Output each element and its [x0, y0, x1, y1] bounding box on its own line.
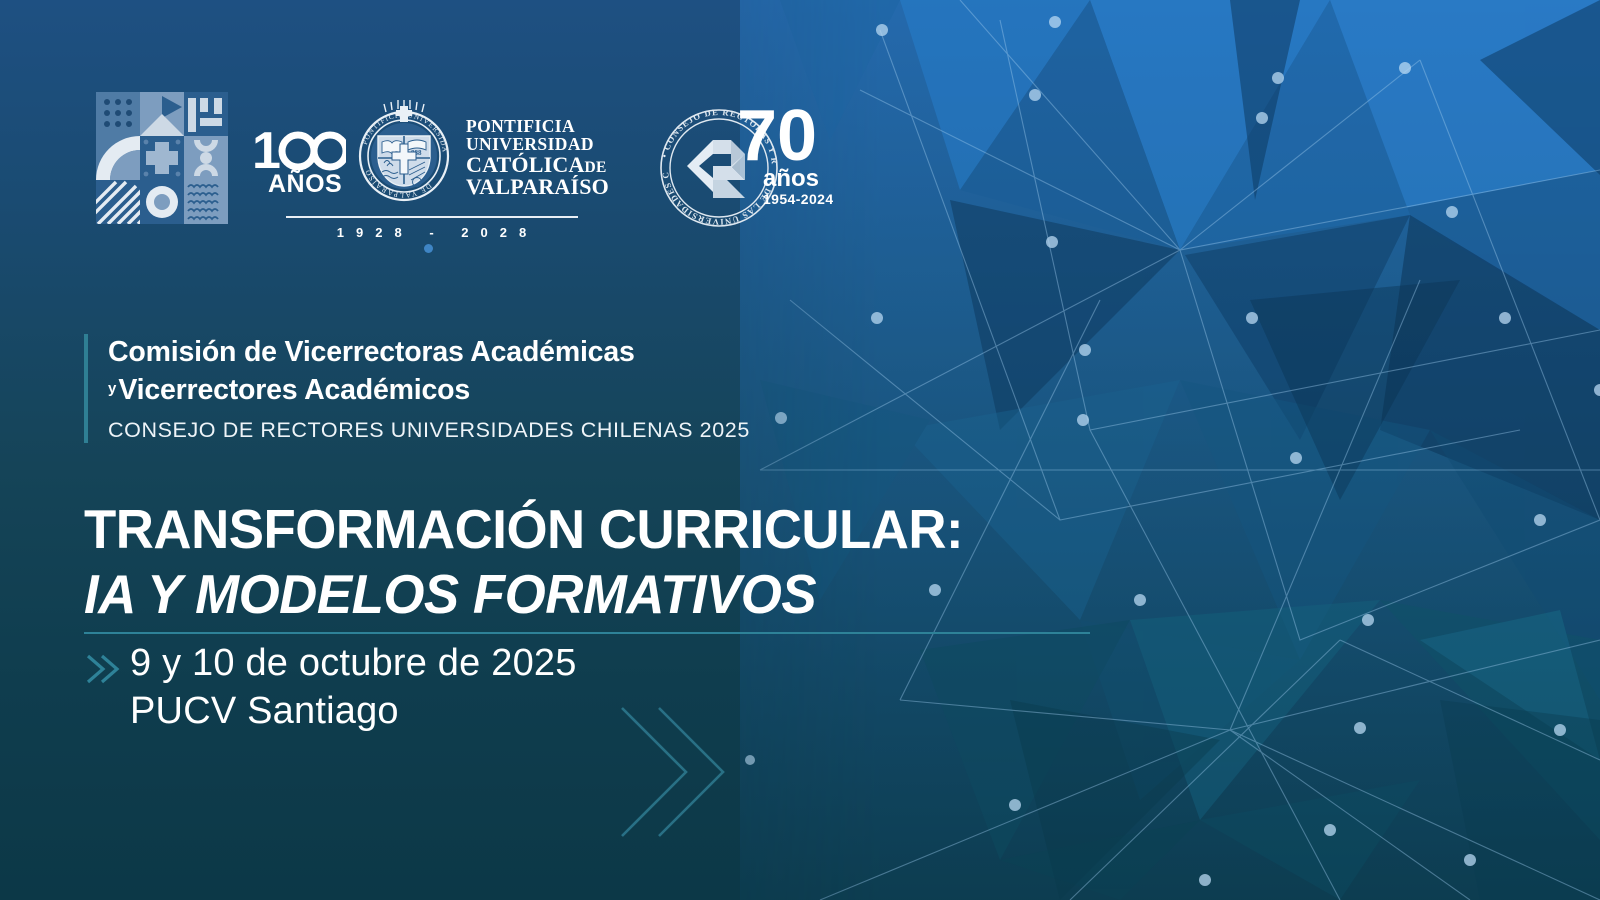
- double-chevron-right-icon: [84, 652, 120, 686]
- event-details: 9 y 10 de octubre de 2025 PUCV Santiago: [84, 640, 577, 735]
- event-dates: 9 y 10 de octubre de 2025: [130, 640, 577, 688]
- pucv-seal-icon: PONTIFICIA UNIVERSIDAD CATÓLICA DE VALPA…: [352, 100, 456, 208]
- headline-divider: [84, 632, 1090, 634]
- headline-line-2: IA Y MODELOS FORMATIVOS: [84, 565, 963, 624]
- commission-line-2-main: Vicerrectores Académicos: [118, 374, 470, 406]
- logo-row: 1 AÑOS: [96, 92, 833, 253]
- centenary-dot: [424, 244, 433, 253]
- cva-geometric-mark-icon: [96, 92, 228, 224]
- commission-line-2: yVicerrectores Académicos: [108, 372, 750, 410]
- cruch-logo: • CONSEJO DE RECTORAS Y RECTORES • • DE …: [651, 98, 833, 233]
- commission-subtitle: CONSEJO DE RECTORES UNIVERSIDADES CHILEN…: [108, 418, 750, 443]
- headline-line-1: TRANSFORMACIÓN CURRICULAR:: [84, 500, 963, 559]
- pucv-wordmark-line3-main: CATÓLICA: [466, 152, 585, 177]
- cruch-anniversary: 70 años 1954-2024: [737, 98, 833, 207]
- centenary-years: 1928 - 2028: [325, 225, 538, 240]
- pucv-wordmark-line3-small: DE: [585, 159, 607, 176]
- slide-canvas: 1 AÑOS: [0, 0, 1600, 900]
- cruch-anos: años: [763, 165, 819, 192]
- pucv-wordmark-line4: VALPARAÍSO: [466, 176, 609, 198]
- centenary-word: AÑOS: [268, 168, 342, 198]
- pucv-100-anos-mark: 1 AÑOS: [254, 122, 346, 200]
- event-venue: PUCV Santiago: [130, 688, 577, 736]
- pucv-wordmark-line3: CATÓLICADE: [466, 154, 609, 176]
- pucv-wordmark: PONTIFICIA UNIVERSIDAD CATÓLICADE VALPAR…: [466, 118, 609, 199]
- double-chevron-right-large-icon: [614, 700, 764, 850]
- cruch-range: 1954-2024: [763, 191, 833, 207]
- commission-line-1: Comisión de Vicerrectoras Académicas: [108, 334, 750, 372]
- commission-conjunction: y: [108, 380, 116, 397]
- centenary-divider: [286, 216, 578, 218]
- pucv-centenary-lockup: 1 AÑOS: [254, 122, 609, 253]
- commission-block: Comisión de Vicerrectoras Académicas yVi…: [84, 334, 750, 443]
- event-headline: TRANSFORMACIÓN CURRICULAR: IA Y MODELOS …: [84, 500, 1000, 625]
- cruch-70-anos-icon: • CONSEJO DE RECTORAS Y RECTORES • • DE …: [651, 98, 833, 228]
